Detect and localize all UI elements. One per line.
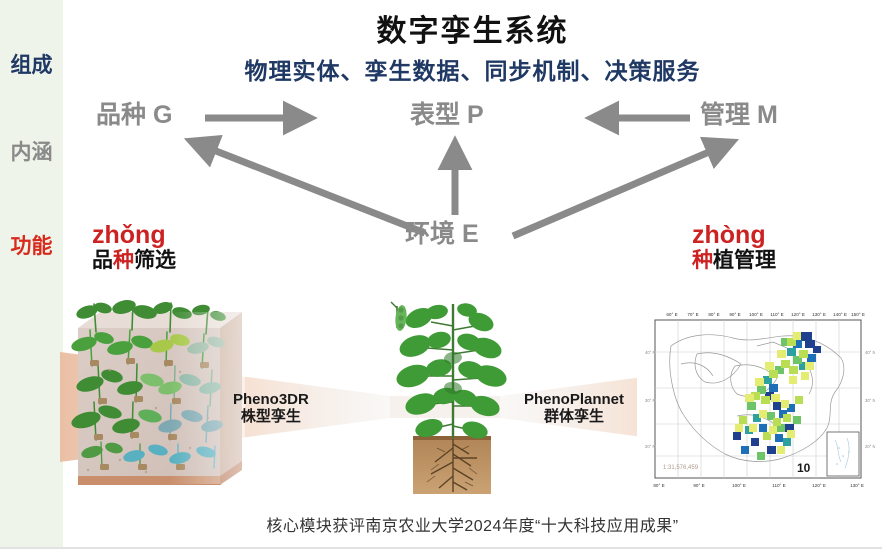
node-variety-g: 品种 G [96, 103, 172, 128]
map-scale-text: 1:31,576,459 [663, 465, 699, 471]
map-left-axis: 40° N 30° N 20° N [645, 350, 656, 449]
svg-text:130° E: 130° E [850, 483, 864, 488]
module-left-cn: 株型孪生 [233, 409, 309, 426]
svg-text:30° N: 30° N [645, 398, 656, 403]
china-distribution-map: 1:31,576,459 10 60° E 70° E 80° E 90° E … [637, 306, 875, 496]
hanzi-highlight-left: 种 [113, 249, 134, 272]
svg-text:120° E: 120° E [791, 312, 805, 317]
svg-text:80° E: 80° E [708, 312, 719, 317]
svg-text:110° E: 110° E [770, 312, 784, 317]
function-label-left: zhǒng 品种筛选 [92, 222, 176, 272]
function-label-right: zhòng 种植管理 [692, 222, 776, 272]
svg-text:60° E: 60° E [666, 312, 677, 317]
module-caption-phenoplannet: PhenoPlannet 群体孪生 [524, 392, 624, 426]
function-right-hanzi: 种植管理 [692, 250, 776, 272]
soybean-pod [391, 302, 408, 332]
soybean-plant-illustration [373, 296, 528, 496]
map-inset-label: 10 [797, 461, 811, 475]
svg-text:70° E: 70° E [687, 312, 698, 317]
sidebar: 组成 内涵 功能 [0, 0, 63, 549]
hanzi-suffix-right: 植管理 [713, 249, 776, 272]
svg-text:20° N: 20° N [865, 444, 875, 449]
svg-text:100° E: 100° E [749, 312, 763, 317]
footer-caption: 核心模块获评南京农业大学2024年度“十大科技应用成果” [63, 512, 882, 536]
svg-text:110° E: 110° E [772, 483, 786, 488]
sidebar-item-connotation[interactable]: 内涵 [0, 142, 63, 163]
function-left-hanzi: 品种筛选 [92, 250, 176, 272]
svg-text:90° E: 90° E [693, 483, 704, 488]
phenotyping-chamber-illustration [70, 300, 260, 495]
svg-text:20° N: 20° N [645, 444, 656, 449]
svg-text:40° N: 40° N [645, 350, 656, 355]
page-subtitle: 物理实体、孪生数据、同步机制、决策服务 [63, 52, 882, 86]
node-environment-e: 环境 E [405, 222, 479, 247]
svg-text:80° E: 80° E [653, 483, 664, 488]
svg-text:150° E: 150° E [851, 312, 865, 317]
node-management-m: 管理 M [700, 103, 778, 128]
svg-text:90° E: 90° E [729, 312, 740, 317]
page-title: 数字孪生系统 [63, 6, 882, 50]
module-right-cn: 群体孪生 [524, 409, 624, 426]
map-inset [827, 432, 859, 476]
svg-text:120° E: 120° E [812, 483, 826, 488]
pinyin-zhong-third: zhǒng [92, 222, 176, 248]
module-caption-pheno3dr: Pheno3DR 株型孪生 [233, 392, 309, 426]
module-left-name: Pheno3DR [233, 392, 309, 409]
map-top-axis: 60° E 70° E 80° E 90° E 100° E 110° E 12… [666, 312, 865, 317]
hanzi-highlight-right: 种 [692, 249, 713, 272]
pinyin-zhong-fourth: zhòng [692, 222, 776, 248]
sidebar-item-function[interactable]: 功能 [0, 236, 63, 257]
svg-text:140° E: 140° E [833, 312, 847, 317]
plant-leaves [394, 302, 510, 442]
svg-text:30° N: 30° N [865, 398, 875, 403]
arrow-e-to-g [193, 142, 425, 233]
svg-text:130° E: 130° E [812, 312, 826, 317]
module-right-name: PhenoPlannet [524, 392, 624, 409]
map-bottom-axis: 80° E 90° E 100° E 110° E 120° E 130° E [653, 483, 864, 488]
svg-text:100° E: 100° E [732, 483, 746, 488]
soil-block [413, 436, 491, 494]
slide-root: 组成 内涵 功能 数字孪生系统 物理实体、孪生数据、同步机制、决策服务 品种 G… [0, 0, 882, 549]
sidebar-item-composition[interactable]: 组成 [0, 55, 63, 76]
hanzi-prefix-left: 品 [92, 249, 113, 272]
map-right-axis: 40° N 30° N 20° N [865, 350, 875, 449]
hanzi-suffix-left: 筛选 [134, 249, 176, 272]
node-phenotype-p: 表型 P [410, 103, 484, 128]
svg-text:40° N: 40° N [865, 350, 875, 355]
